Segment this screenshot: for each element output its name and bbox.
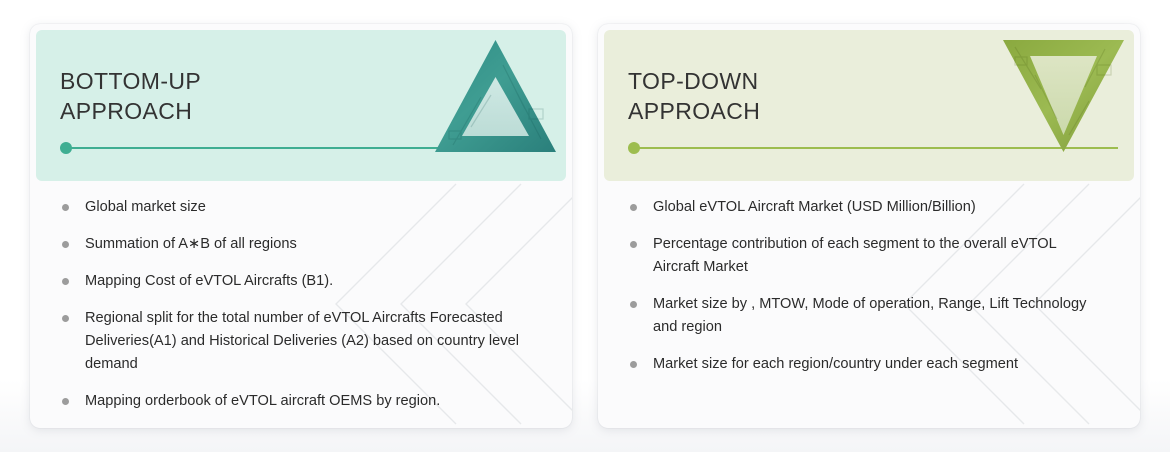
list-item: Summation of A∗B of all regions (58, 233, 548, 256)
list-item: Market size by , MTOW, Mode of operation… (626, 293, 1096, 339)
slide-canvas: BOTTOM-UP APPROACH (0, 0, 1170, 452)
approach-cards-row: BOTTOM-UP APPROACH (30, 24, 1140, 428)
card-bottom-up-approach[interactable]: BOTTOM-UP APPROACH (30, 24, 572, 428)
list-item: Global eVTOL Aircraft Market (USD Millio… (626, 196, 1096, 219)
list-item: Mapping orderbook of eVTOL aircraft OEMS… (58, 390, 548, 413)
page-title: BOTTOM-UP APPROACH (60, 66, 201, 126)
card-top-down-approach[interactable]: TOP-DOWN APPROACH (598, 24, 1140, 428)
list-item: Mapping Cost of eVTOL Aircrafts (B1). (58, 270, 548, 293)
card-header-bottom-up: BOTTOM-UP APPROACH (36, 30, 566, 181)
list-item: Percentage contribution of each segment … (626, 233, 1096, 279)
list-item: Market size for each region/country unde… (626, 353, 1096, 376)
card-header-top-down: TOP-DOWN APPROACH (604, 30, 1134, 181)
bullet-list-bottom-up: Global market size Summation of A∗B of a… (58, 196, 548, 427)
triangle-up-icon (433, 35, 558, 157)
page-title: TOP-DOWN APPROACH (628, 66, 760, 126)
list-item: Regional split for the total number of e… (58, 307, 548, 376)
list-item: Global market size (58, 196, 548, 219)
bullet-list-top-down: Global eVTOL Aircraft Market (USD Millio… (626, 196, 1096, 390)
triangle-down-icon (1001, 35, 1126, 157)
